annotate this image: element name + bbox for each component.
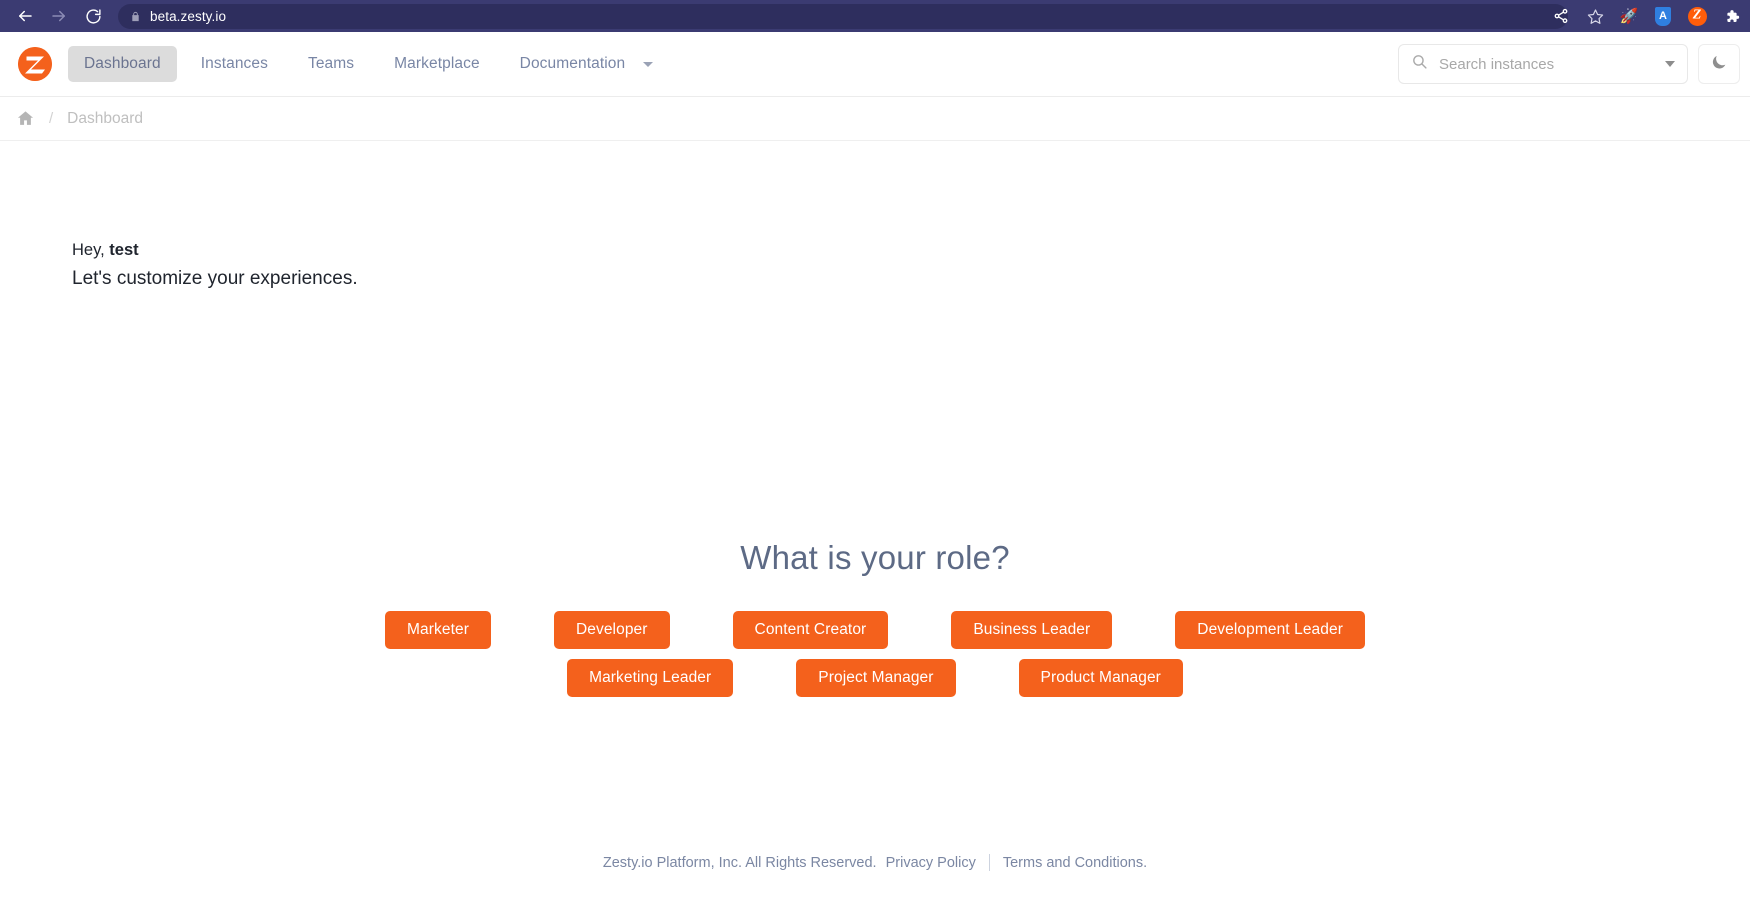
star-icon[interactable] (1584, 5, 1606, 27)
back-button[interactable] (10, 1, 40, 31)
greeting-subtitle: Let's customize your experiences. (72, 268, 358, 290)
browser-nav-buttons (10, 1, 108, 31)
rocket-extension-icon[interactable]: 🚀 (1618, 5, 1640, 27)
role-button-row-2: Marketing Leader Project Manager Product… (567, 659, 1183, 697)
main-navigation: Dashboard Instances Teams Marketplace Do… (68, 46, 669, 82)
role-button-rows: Marketer Developer Content Creator Busin… (0, 611, 1750, 697)
forward-button[interactable] (44, 1, 74, 31)
greeting-line: Hey, test (72, 241, 358, 260)
address-bar[interactable]: beta.zesty.io (118, 4, 1568, 29)
browser-toolbar-icons: 🚀 A (1550, 0, 1742, 32)
role-button-development-leader[interactable]: Development Leader (1175, 611, 1365, 649)
search-dropdown-caret-icon[interactable] (1665, 61, 1675, 67)
nav-label-teams: Teams (308, 55, 354, 72)
role-button-developer[interactable]: Developer (554, 611, 670, 649)
nav-label-instances: Instances (201, 55, 268, 72)
breadcrumb-current[interactable]: Dashboard (67, 110, 143, 128)
page-footer: Zesty.io Platform, Inc. All Rights Reser… (0, 854, 1750, 871)
footer-divider (989, 854, 990, 871)
search-icon (1411, 53, 1428, 75)
role-selection-section: What is your role? Marketer Developer Co… (0, 539, 1750, 697)
role-button-product-manager[interactable]: Product Manager (1019, 659, 1183, 697)
nav-label-documentation: Documentation (520, 55, 626, 73)
page-title: What is your role? (0, 539, 1750, 577)
greeting-block: Hey, test Let's customize your experienc… (72, 241, 358, 290)
zesty-logo[interactable] (18, 47, 52, 81)
privacy-policy-link[interactable]: Privacy Policy (886, 855, 976, 871)
browser-chrome-bar: beta.zesty.io 🚀 A (0, 0, 1750, 32)
search-input[interactable] (1439, 56, 1654, 73)
breadcrumb-separator: / (49, 110, 53, 127)
nav-item-teams[interactable]: Teams (292, 46, 370, 82)
nav-item-documentation[interactable]: Documentation (504, 46, 670, 82)
app-header: Dashboard Instances Teams Marketplace Do… (0, 32, 1750, 97)
lock-icon (130, 10, 141, 23)
page-content: Hey, test Let's customize your experienc… (0, 141, 1750, 911)
role-button-business-leader[interactable]: Business Leader (951, 611, 1112, 649)
role-button-marketing-leader[interactable]: Marketing Leader (567, 659, 733, 697)
breadcrumb: / Dashboard (0, 97, 1750, 141)
terms-and-conditions-link[interactable]: Terms and Conditions. (1003, 855, 1147, 871)
share-icon[interactable] (1550, 5, 1572, 27)
puzzle-piece-icon[interactable] (1720, 5, 1742, 27)
bitwarden-extension-icon[interactable]: A (1652, 5, 1674, 27)
role-button-row-1: Marketer Developer Content Creator Busin… (385, 611, 1365, 649)
extension-badge-letter: A (1655, 7, 1671, 26)
nav-item-marketplace[interactable]: Marketplace (378, 46, 496, 82)
header-right-controls (1398, 44, 1740, 84)
nav-label-dashboard: Dashboard (84, 55, 161, 72)
zesty-extension-icon[interactable] (1686, 5, 1708, 27)
dark-mode-toggle-button[interactable] (1698, 44, 1740, 84)
nav-label-marketplace: Marketplace (394, 55, 480, 72)
reload-button[interactable] (78, 1, 108, 31)
greeting-prefix: Hey, (72, 241, 109, 259)
nav-item-instances[interactable]: Instances (185, 46, 284, 82)
footer-copyright: Zesty.io Platform, Inc. All Rights Reser… (603, 855, 877, 871)
search-instances-box[interactable] (1398, 44, 1688, 84)
moon-icon (1710, 53, 1728, 76)
nav-item-dashboard[interactable]: Dashboard (68, 46, 177, 82)
url-text: beta.zesty.io (150, 9, 226, 24)
role-button-project-manager[interactable]: Project Manager (796, 659, 955, 697)
role-button-content-creator[interactable]: Content Creator (733, 611, 889, 649)
chevron-down-icon (643, 62, 653, 67)
role-button-marketer[interactable]: Marketer (385, 611, 491, 649)
home-icon[interactable] (16, 109, 35, 128)
greeting-username: test (109, 241, 138, 259)
